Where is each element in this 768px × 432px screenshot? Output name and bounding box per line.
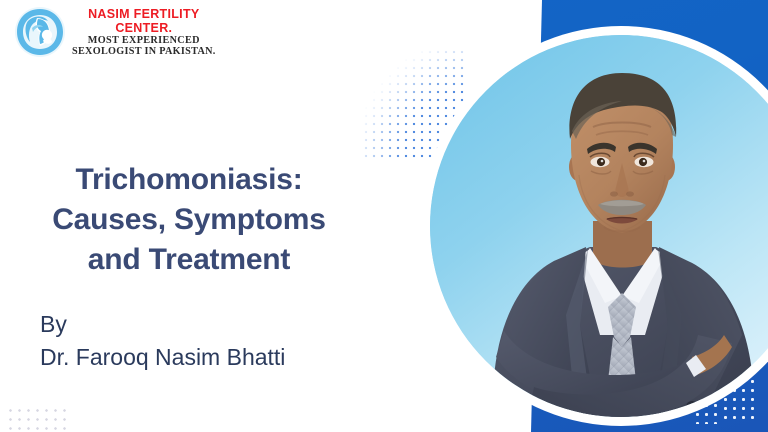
- author-byline: By Dr. Farooq Nasim Bhatti: [40, 308, 285, 374]
- byline-label: By: [40, 308, 285, 341]
- page-title: Trichomoniasis: Causes, Symptoms and Tre…: [24, 160, 354, 280]
- brand-logo[interactable]: NASIM FERTILITY CENTER. MOST EXPERIENCED…: [14, 6, 216, 58]
- byline-author-name: Dr. Farooq Nasim Bhatti: [40, 341, 285, 374]
- brand-logo-text: NASIM FERTILITY CENTER. MOST EXPERIENCED…: [72, 6, 216, 57]
- portrait-circle: [430, 35, 768, 417]
- doctor-portrait-image: [430, 35, 768, 417]
- dot-grid-bottom-left-decoration: [6, 406, 68, 432]
- page-title-line-1: Trichomoniasis:: [24, 160, 354, 200]
- brand-line-1: NASIM FERTILITY: [88, 8, 199, 21]
- mother-and-child-circle-icon: [14, 6, 66, 58]
- slide-canvas: NASIM FERTILITY CENTER. MOST EXPERIENCED…: [0, 0, 768, 432]
- page-title-line-2: Causes, Symptoms: [24, 200, 354, 240]
- page-title-line-3: and Treatment: [24, 240, 354, 280]
- brand-line-2: CENTER.: [115, 22, 172, 35]
- brand-line-4: SEXOLOGIST IN PAKISTAN.: [72, 47, 216, 58]
